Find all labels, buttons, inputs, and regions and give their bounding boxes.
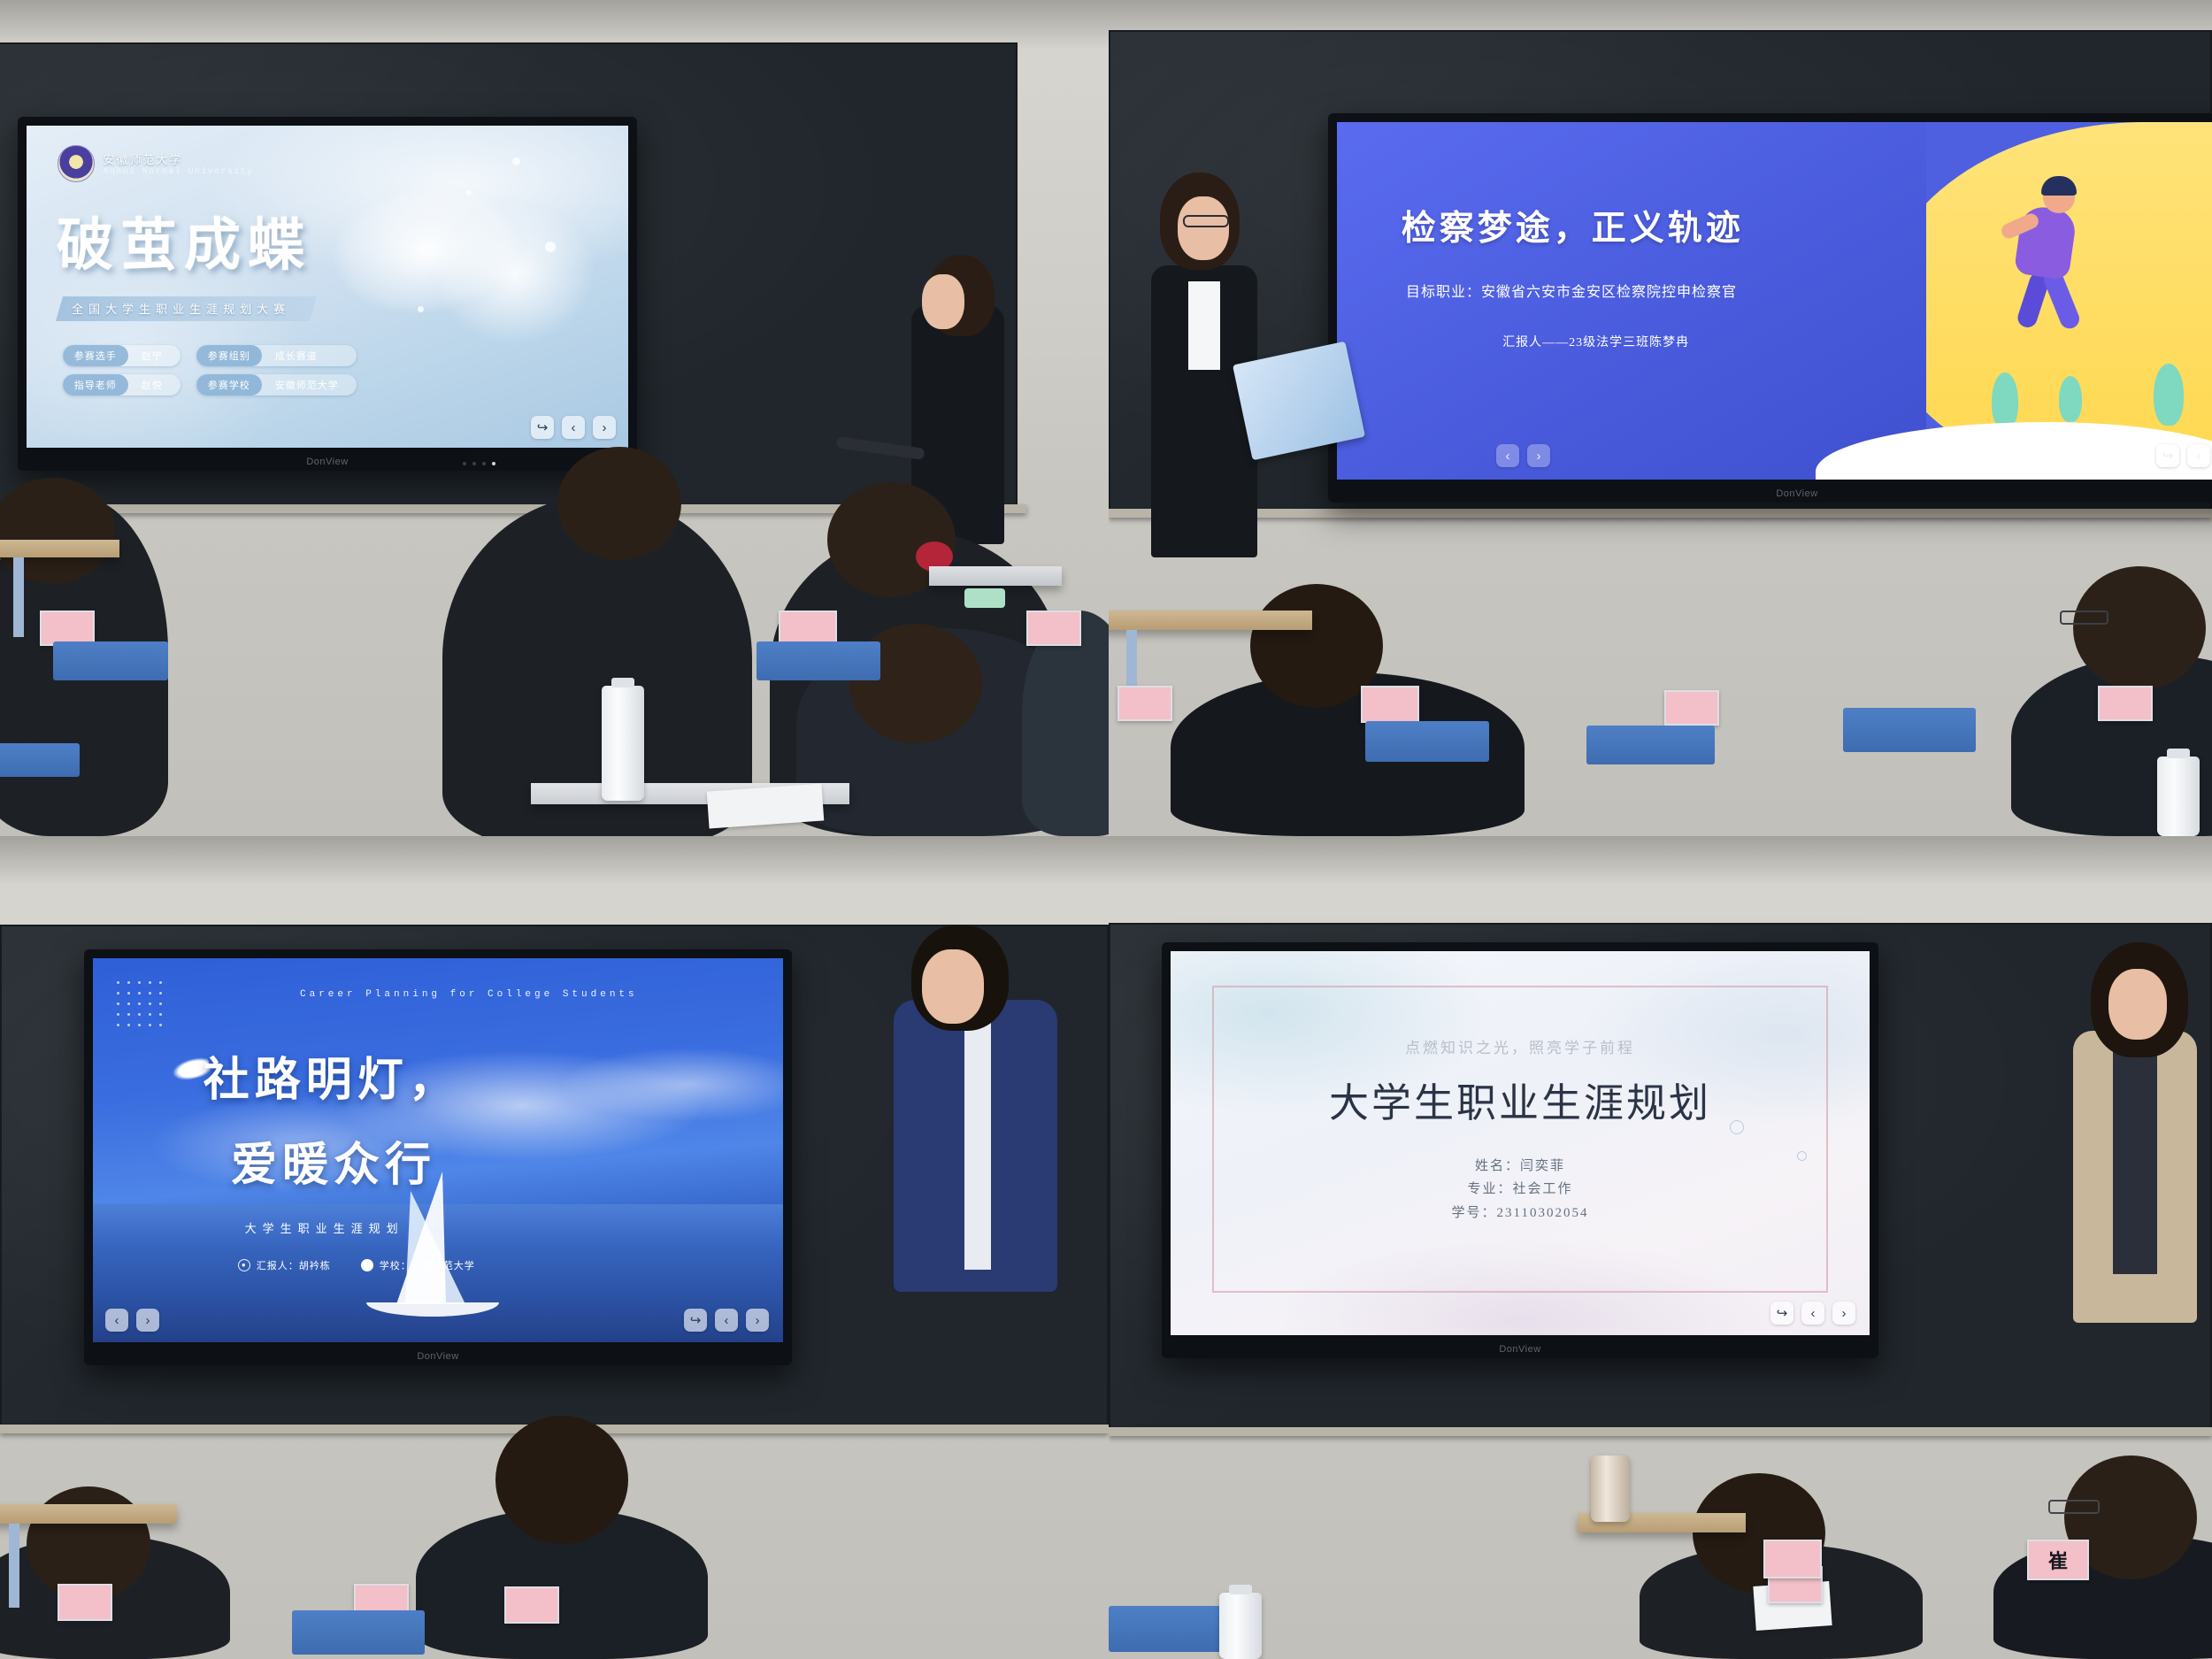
bottle-cap: [611, 678, 635, 687]
name-plate: [58, 1584, 112, 1621]
indicator-dot: [472, 462, 476, 465]
slide-title: 检察梦途，正义轨迹: [1402, 201, 1744, 250]
chevron-left-icon[interactable]: ‹: [2187, 444, 2210, 467]
tv-brand-label: DonView: [1499, 1344, 1540, 1355]
info-pill: 指导老师 赵悦: [63, 374, 180, 396]
name-plate: [40, 611, 95, 646]
meta-school: 学校：安徽师范大学: [361, 1258, 475, 1272]
desk-leg: [13, 557, 24, 637]
slide-nav-controls[interactable]: ↪ ‹ ›: [2156, 444, 2212, 467]
audience-head: [557, 447, 681, 560]
chair-back: [53, 641, 168, 680]
water-bottle: [2157, 757, 2200, 836]
slide-nav-controls[interactable]: ↪ ‹ ›: [684, 1309, 769, 1332]
slide-butterfly: 安徽师范大学 Anhui Normal University 破茧成蝶 全国大学…: [27, 126, 628, 448]
student-desk: [1109, 611, 1312, 630]
chevron-right-icon[interactable]: ›: [136, 1309, 159, 1332]
chair-back: [1586, 726, 1715, 764]
slide-info-pills: 参赛选手 赵宁 参赛组别 成长赛道 指导老师 赵悦 参赛学校: [63, 345, 357, 396]
smart-tv-display[interactable]: 点燃知识之光，照亮学子前程 大学生职业生涯规划 姓名：闫奕菲 专业：社会工作 学…: [1162, 942, 1878, 1358]
tree-shape: [2059, 376, 2082, 422]
slide-title: 大学生职业生涯规划: [1171, 1071, 1870, 1128]
university-brand: 安徽师范大学 Anhui Normal University: [58, 145, 253, 182]
tv-status-indicators: [463, 462, 495, 465]
chalk-rail: [1109, 509, 2212, 518]
share-icon[interactable]: ↪: [2156, 444, 2179, 467]
student-desk: [0, 1504, 177, 1524]
university-seal-icon: [58, 145, 95, 182]
slide-nav-controls[interactable]: ↪ ‹ ›: [1770, 1302, 1855, 1325]
chevron-right-icon[interactable]: ›: [593, 416, 616, 439]
decorative-dot-grid: [117, 981, 165, 1030]
slide-supertitle: 点燃知识之光，照亮学子前程: [1171, 1035, 1870, 1057]
chevron-left-icon[interactable]: ‹: [562, 416, 585, 439]
info-pill: 参赛学校 安徽师范大学: [196, 374, 357, 396]
presenter-text: 汇报人：胡衿栋: [257, 1258, 331, 1272]
runner-illustration: [2004, 173, 2110, 341]
name-plate: [1118, 686, 1172, 721]
name-plate: [2098, 686, 2153, 721]
tv-brand-label: DonView: [306, 457, 348, 467]
water-bottle: [1219, 1593, 1262, 1659]
slide-meta: 姓名：闫奕菲 专业：社会工作 学号：23110302054: [1171, 1155, 1870, 1225]
info-pill-key: 参赛学校: [196, 374, 262, 396]
chair-back: [1365, 721, 1489, 762]
info-pill-key: 参赛选手: [63, 345, 128, 366]
meta-presenter: ● 汇报人：胡衿栋: [238, 1258, 331, 1272]
inner-top: [2113, 1044, 2157, 1274]
info-pill-key: 参赛组别: [196, 345, 262, 366]
sail-main: [396, 1171, 446, 1304]
student-desk: [929, 566, 1062, 586]
smart-tv-display[interactable]: 检察梦途，正义轨迹 目标职业：安徽省六安市金安区检察院控申检察官 汇报人——23…: [1328, 113, 2212, 503]
school-text: 学校：安徽师范大学: [380, 1258, 475, 1272]
slide-procurator: 检察梦途，正义轨迹 目标职业：安徽省六安市金安区检察院控申检察官 汇报人——23…: [1337, 122, 2212, 480]
indicator-dot: [463, 462, 466, 465]
slide-career-plan: 点燃知识之光，照亮学子前程 大学生职业生涯规划 姓名：闫奕菲 专业：社会工作 学…: [1171, 951, 1870, 1335]
slide-sailboat: Career Planning for College Students 社路明…: [93, 958, 783, 1342]
tree-shape: [1992, 373, 2018, 429]
photo-grid: 安徽师范大学 Anhui Normal University 破茧成蝶 全国大学…: [0, 0, 2212, 1659]
tv-screen: 安徽师范大学 Anhui Normal University 破茧成蝶 全国大学…: [27, 126, 628, 448]
chevron-left-icon[interactable]: ‹: [1496, 444, 1519, 467]
chair-back: [0, 743, 80, 777]
share-icon[interactable]: ↪: [684, 1309, 707, 1332]
school-icon: [361, 1259, 373, 1271]
presenter-face: [922, 274, 964, 329]
presenter-face: [2108, 969, 2167, 1040]
name-plate: [1026, 611, 1081, 646]
glasses-icon: [1183, 215, 1229, 227]
info-pill-value: 安徽师范大学: [262, 374, 357, 396]
tv-screen: 检察梦途，正义轨迹 目标职业：安徽省六安市金安区检察院控申检察官 汇报人——23…: [1337, 122, 2212, 480]
share-icon[interactable]: ↪: [1770, 1302, 1793, 1325]
slide-subtitle-banner: 全国大学生职业生涯规划大赛: [56, 296, 317, 321]
jacket-stripe: [964, 1004, 991, 1270]
indicator-dot-active: [492, 462, 495, 465]
slide-title-line1: 社路明灯，: [204, 1042, 460, 1109]
slide-prev-next-left[interactable]: ‹ ›: [105, 1309, 159, 1332]
presenter-shirt: [1188, 281, 1220, 370]
name-plate-cui: 崔: [2027, 1540, 2089, 1580]
info-pill-value: 赵悦: [128, 374, 180, 396]
ceiling-shadow: [1109, 836, 2212, 886]
chevron-right-icon[interactable]: ›: [1527, 444, 1550, 467]
info-pill-value: 赵宁: [128, 345, 180, 366]
chevron-right-icon[interactable]: ›: [746, 1309, 769, 1332]
blue-shape: [1337, 122, 1926, 480]
chalk-rail: [1109, 1427, 2212, 1436]
tv-screen: 点燃知识之光，照亮学子前程 大学生职业生涯规划 姓名：闫奕菲 专业：社会工作 学…: [1171, 951, 1870, 1335]
water-droplet: [418, 306, 424, 312]
water-droplet: [466, 190, 472, 196]
slide-subtitle: 全国大学生职业生涯规划大赛: [73, 300, 291, 317]
indicator-dot: [482, 462, 486, 465]
presenter-face: [922, 949, 984, 1024]
info-pill: 参赛组别 成长赛道: [196, 345, 357, 366]
smart-tv-display[interactable]: Career Planning for College Students 社路明…: [84, 949, 792, 1365]
tv-screen: Career Planning for College Students 社路明…: [93, 958, 783, 1342]
chevron-right-icon[interactable]: ›: [1832, 1302, 1855, 1325]
butterfly-illustration: [321, 147, 611, 381]
slide-title: 破茧成蝶: [57, 200, 311, 281]
slide-prev-next-left[interactable]: ‹ ›: [1496, 444, 1550, 467]
smart-tv-display[interactable]: 安徽师范大学 Anhui Normal University 破茧成蝶 全国大学…: [18, 117, 637, 471]
chevron-left-icon[interactable]: ‹: [715, 1309, 738, 1332]
meta-name: 姓名：闫奕菲: [1171, 1155, 1870, 1178]
panel-bottom-left: Career Planning for College Students 社路明…: [0, 836, 1109, 1659]
meta-major: 专业：社会工作: [1171, 1178, 1870, 1201]
chair-back: [292, 1610, 425, 1655]
name-plate: [1361, 686, 1419, 723]
tv-brand-label: DonView: [1776, 488, 1817, 499]
panel-top-right: 检察梦途，正义轨迹 目标职业：安徽省六安市金安区检察院控申检察官 汇报人——23…: [1109, 0, 2212, 836]
water-bottle: [602, 686, 644, 801]
info-pill: 参赛选手 赵宁: [63, 345, 180, 366]
glasses-icon: [2048, 1500, 2100, 1514]
meta-student-id: 学号：23110302054: [1171, 1202, 1870, 1225]
bottle-cap: [1229, 1585, 1253, 1594]
share-icon[interactable]: ↪: [531, 416, 554, 439]
info-pill-key: 指导老师: [63, 374, 128, 396]
university-name-en: Anhui Normal University: [103, 167, 253, 177]
student-desk: [0, 540, 119, 557]
runner-hair: [2041, 176, 2077, 196]
name-plate: [1664, 690, 1719, 726]
name-plate: [1763, 1540, 1822, 1578]
panel-bottom-right: 点燃知识之光，照亮学子前程 大学生职业生涯规划 姓名：闫奕菲 专业：社会工作 学…: [1109, 836, 2212, 1659]
tv-brand-label: DonView: [417, 1351, 458, 1362]
slide-english-tagline: Career Planning for College Students: [300, 989, 638, 1000]
glasses-icon: [2060, 611, 2108, 625]
desk-leg: [9, 1524, 19, 1608]
person-icon: ●: [238, 1259, 250, 1271]
cup: [964, 588, 1005, 608]
tree-shape: [2154, 364, 2184, 426]
audience-head: [495, 1416, 628, 1544]
chair-back: [757, 641, 880, 680]
slide-presenter: 汇报人——23级法学三班陈梦冉: [1502, 333, 1689, 350]
slide-subtitle: 大学生职业生涯规划: [245, 1219, 404, 1236]
chevron-left-icon[interactable]: ‹: [1801, 1302, 1824, 1325]
presenter-face: [1178, 196, 1229, 260]
slide-meta-row: ● 汇报人：胡衿栋 学校：安徽师范大学: [238, 1258, 475, 1272]
chair-back: [1843, 708, 1976, 752]
name-plate: [504, 1586, 559, 1624]
ceiling-shadow: [0, 836, 1109, 886]
decorative-frame: [1212, 986, 1827, 1293]
slide-target-job: 目标职业：安徽省六安市金安区检察院控申检察官: [1406, 280, 1737, 301]
university-name-cn: 安徽师范大学: [103, 150, 253, 167]
bottle-cap: [2167, 749, 2191, 758]
water-bottle: [1591, 1455, 1630, 1522]
slide-nav-controls[interactable]: ↪ ‹ ›: [531, 416, 616, 439]
chevron-left-icon[interactable]: ‹: [105, 1309, 128, 1332]
audience-head: [2073, 566, 2206, 690]
panel-top-left: 安徽师范大学 Anhui Normal University 破茧成蝶 全国大学…: [0, 0, 1109, 836]
water-droplet: [512, 157, 520, 165]
info-pill-value: 成长赛道: [262, 345, 335, 366]
